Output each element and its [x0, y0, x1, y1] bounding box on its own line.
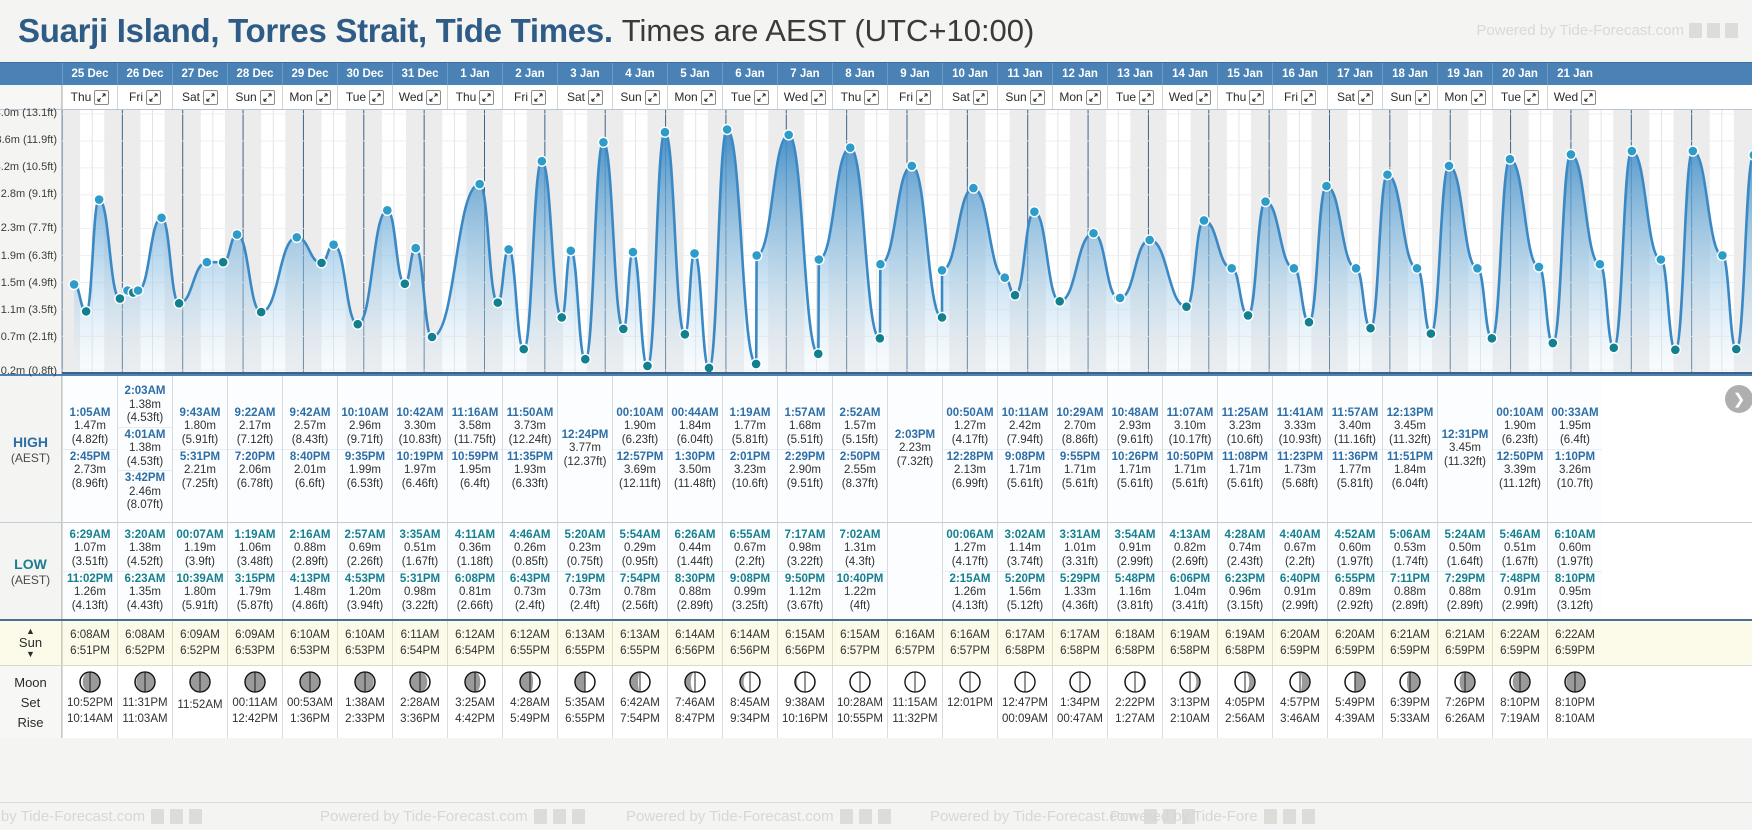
high-tide-cell[interactable]: 11:16AM3.58m(11.75ft)10:59PM1.95m(6.4ft): [447, 376, 502, 522]
expand-icon[interactable]: [531, 90, 546, 105]
tide-height-ft: (9.51ft): [778, 478, 832, 492]
moon-cell: 8:10PM7:19AM: [1492, 666, 1547, 738]
tide-time: 11:25AM: [1218, 407, 1272, 421]
date-header-cell[interactable]: 10 Jan: [942, 63, 997, 85]
tide-height-ft: (6.33ft): [503, 478, 557, 492]
dayofweek-header-cell[interactable]: Sat: [1327, 85, 1382, 109]
high-tide-cell[interactable]: 00:10AM1.90m(6.23ft)12:57PM3.69m(12.11ft…: [612, 376, 667, 522]
low-tide-cell[interactable]: 5:20AM0.23m(0.75ft)7:19PM0.73m(2.4ft): [557, 523, 612, 619]
tide-height-m: 3.26m: [1548, 464, 1602, 478]
tide-chart-page: Suarji Island, Torres Strait, Tide Times…: [0, 0, 1752, 830]
tide-height-ft: (6.4ft): [448, 478, 502, 492]
date-header-cell[interactable]: 19 Jan: [1437, 63, 1492, 85]
tide-height-ft: (2.99ft): [1108, 556, 1162, 570]
sun-cell: 6:20AM6:59PM: [1327, 621, 1382, 665]
tide-entry: 2:03PM2.23m(7.32ft): [888, 428, 942, 471]
low-tide-cell[interactable]: 6:29AM1.07m(3.51ft)11:02PM1.26m(4.13ft): [62, 523, 117, 619]
high-tide-cell[interactable]: 10:48AM2.93m(9.61ft)10:26PM1.71m(5.61ft): [1107, 376, 1162, 522]
date-header-cell[interactable]: 11 Jan: [997, 63, 1052, 85]
moon-phase-icon: [298, 670, 322, 694]
high-tide-cell[interactable]: 2:03PM2.23m(7.32ft): [887, 376, 942, 522]
dayofweek-header-cell[interactable]: Sat: [942, 85, 997, 109]
date-header-cell[interactable]: 5 Jan: [667, 63, 722, 85]
low-tide-cell[interactable]: [887, 523, 942, 619]
moon-phase-icon: [738, 670, 762, 694]
watermark-icon-1: [1689, 23, 1702, 38]
date-header-cell[interactable]: 17 Jan: [1327, 63, 1382, 85]
low-tide-cell[interactable]: 4:13AM0.82m(2.69ft)6:06PM1.04m(3.41ft): [1162, 523, 1217, 619]
y-axis-tick-label: 3.2m (10.5ft): [0, 161, 57, 173]
low-tide-cell[interactable]: 3:31AM1.01m(3.31ft)5:29PM1.33m(4.36ft): [1052, 523, 1107, 619]
dayofweek-header-cell[interactable]: Sun: [997, 85, 1052, 109]
date-header-cell[interactable]: 25 Dec: [62, 63, 117, 85]
sunrise-time: 6:21AM: [1390, 629, 1430, 641]
dayofweek-header-cell[interactable]: Sun: [227, 85, 282, 109]
low-tide-cell[interactable]: 5:06AM0.53m(1.74ft)7:11PM0.88m(2.89ft): [1382, 523, 1437, 619]
date-header-cell[interactable]: 1 Jan: [447, 63, 502, 85]
date-header-cell[interactable]: 14 Jan: [1162, 63, 1217, 85]
dayofweek-header-cell[interactable]: Fri: [502, 85, 557, 109]
low-tide-section: LOW (AEST) 6:29AM1.07m(3.51ft)11:02PM1.2…: [0, 522, 1752, 619]
high-tide-cell[interactable]: 11:25AM3.23m(10.6ft)11:08PM1.71m(5.61ft): [1217, 376, 1272, 522]
date-header-cell[interactable]: 9 Jan: [887, 63, 942, 85]
expand-icon[interactable]: [146, 90, 161, 105]
high-tide-cell[interactable]: 9:43AM1.80m(5.91ft)5:31PM2.21m(7.25ft): [172, 376, 227, 522]
dayofweek-header-cell[interactable]: Thu: [832, 85, 887, 109]
expand-icon[interactable]: [588, 90, 603, 105]
tide-height-m: 2.01m: [283, 464, 337, 478]
high-tide-cell[interactable]: 12:24PM3.77m(12.37ft): [557, 376, 612, 522]
expand-icon[interactable]: [1358, 90, 1373, 105]
tide-height-m: 3.69m: [613, 464, 667, 478]
tide-time: 10:50PM: [1163, 451, 1217, 465]
tide-entry: 11:07AM3.10m(10.17ft): [1163, 406, 1217, 449]
high-tide-cell[interactable]: 10:10AM2.96m(9.71ft)9:35PM1.99m(6.53ft): [337, 376, 392, 522]
tide-height-ft: (1.18ft): [448, 556, 502, 570]
tide-height-ft: (2.89ft): [668, 600, 722, 614]
tide-height-m: 3.45m: [1383, 420, 1437, 434]
y-axis-tick-label: 1.1m (3.5ft): [1, 304, 57, 316]
date-header-cell[interactable]: 13 Jan: [1107, 63, 1162, 85]
date-header-cell[interactable]: 16 Jan: [1272, 63, 1327, 85]
tide-time: 11:57AM: [1328, 407, 1382, 421]
high-tide-cell[interactable]: 10:42AM3.30m(10.83ft)10:19PM1.97m(6.46ft…: [392, 376, 447, 522]
moon-phase-icon: [408, 670, 432, 694]
high-tide-cell[interactable]: 9:42AM2.57m(8.43ft)8:40PM2.01m(6.6ft): [282, 376, 337, 522]
moon-cell: 4:28AM5:49PM: [502, 666, 557, 738]
sunrise-time: 6:18AM: [1115, 629, 1155, 641]
low-tide-cell[interactable]: 7:02AM1.31m(4.3ft)10:40PM1.22m(4ft): [832, 523, 887, 619]
footer-icon-3: [878, 809, 891, 824]
low-tide-cell[interactable]: 2:57AM0.69m(2.26ft)4:53PM1.20m(3.94ft): [337, 523, 392, 619]
date-header-cell[interactable]: 21 Jan: [1547, 63, 1602, 85]
high-tide-cell[interactable]: 00:33AM1.95m(6.4ft)1:10PM3.26m(10.7ft): [1547, 376, 1602, 522]
expand-icon[interactable]: [316, 90, 331, 105]
dayofweek-text: Wed: [1169, 90, 1193, 104]
dayofweek-text: Mon: [674, 90, 697, 104]
date-header-cell[interactable]: 2 Jan: [502, 63, 557, 85]
tide-height-m: 0.88m: [1383, 586, 1437, 600]
moon-cell: 3:13PM2:10AM: [1162, 666, 1217, 738]
date-header-cell[interactable]: 18 Jan: [1382, 63, 1437, 85]
high-tide-cell[interactable]: 12:31PM3.45m(11.32ft): [1437, 376, 1492, 522]
dayofweek-header-cell[interactable]: Sat: [172, 85, 227, 109]
tide-height-ft: (2.26ft): [338, 556, 392, 570]
expand-icon[interactable]: [94, 90, 109, 105]
expand-icon[interactable]: [1524, 90, 1539, 105]
tide-height-m: 0.51m: [1493, 542, 1547, 556]
sunrise-time: 6:12AM: [455, 629, 495, 641]
low-tide-cell[interactable]: 1:19AM1.06m(3.48ft)3:15PM1.79m(5.87ft): [227, 523, 282, 619]
high-tide-cell[interactable]: 12:13PM3.45m(11.32ft)11:51PM1.84m(6.04ft…: [1382, 376, 1437, 522]
expand-icon[interactable]: [1301, 90, 1316, 105]
sunset-time: 6:59PM: [1280, 645, 1320, 657]
expand-icon[interactable]: [1249, 90, 1264, 105]
tide-height-ft: (8.43ft): [283, 434, 337, 448]
tide-entry: 3:31AM1.01m(3.31ft): [1053, 528, 1107, 571]
tide-height-m: 2.06m: [228, 464, 282, 478]
date-header-cell[interactable]: 27 Dec: [172, 63, 227, 85]
tide-height-m: 1.84m: [668, 420, 722, 434]
tide-height-ft: (10.93ft): [1273, 434, 1327, 448]
tide-entry: 11:51PM1.84m(6.04ft): [1383, 449, 1437, 493]
sunset-time: 6:55PM: [510, 645, 550, 657]
moon-phase-icon: [1288, 670, 1312, 694]
expand-icon[interactable]: [916, 90, 931, 105]
low-tide-cell[interactable]: 3:20AM1.38m(4.52ft)6:23AM1.35m(4.43ft): [117, 523, 172, 619]
moonrise-time: 2:56AM: [1225, 712, 1265, 726]
tide-height-m: 0.88m: [668, 586, 722, 600]
tide-time: 3:02AM: [998, 529, 1052, 543]
low-tide-cell[interactable]: 5:46AM0.51m(1.67ft)7:48PM0.91m(2.99ft): [1492, 523, 1547, 619]
expand-icon[interactable]: [1581, 90, 1596, 105]
tide-time: 12:57PM: [613, 451, 667, 465]
dayofweek-text: Mon: [1059, 90, 1082, 104]
date-header-cell[interactable]: 3 Jan: [557, 63, 612, 85]
low-tide-cell[interactable]: 5:54AM0.29m(0.95ft)7:54PM0.78m(2.56ft): [612, 523, 667, 619]
high-tide-cell[interactable]: 2:03AM1.38m(4.53ft)4:01AM1.38m(4.53ft)3:…: [117, 376, 172, 522]
tide-time: 6:26AM: [668, 529, 722, 543]
footer-watermark-text: Powered by Tide-Fore: [1110, 808, 1258, 825]
high-tide-cell[interactable]: 00:10AM1.90m(6.23ft)12:50PM3.39m(11.12ft…: [1492, 376, 1547, 522]
high-tide-cell[interactable]: 9:22AM2.17m(7.12ft)7:20PM2.06m(6.78ft): [227, 376, 282, 522]
tide-time: 5:06AM: [1383, 529, 1437, 543]
low-label-tz: (AEST): [11, 573, 50, 587]
dayofweek-header-cell[interactable]: Mon: [667, 85, 722, 109]
tide-time: 3:15PM: [228, 573, 282, 587]
moonset-time: 8:10PM: [1555, 696, 1595, 710]
tide-height-ft: (2.92ft): [1328, 600, 1382, 614]
expand-icon[interactable]: [1030, 90, 1045, 105]
dayofweek-text: Wed: [399, 90, 423, 104]
dayofweek-header-cell[interactable]: Sun: [612, 85, 667, 109]
moonrise-time: 00:09AM: [1002, 712, 1048, 726]
expand-icon[interactable]: [260, 90, 275, 105]
tide-height-ft: (3.94ft): [338, 600, 392, 614]
low-tide-label: LOW (AEST): [0, 523, 62, 619]
tide-height-m: 0.91m: [1273, 586, 1327, 600]
expand-icon[interactable]: [864, 90, 879, 105]
tide-time: 2:03AM: [118, 385, 172, 399]
dayofweek-header-cell[interactable]: Sun: [1382, 85, 1437, 109]
low-tide-cell[interactable]: 00:06AM1.27m(4.17ft)2:15AM1.26m(4.13ft): [942, 523, 997, 619]
expand-icon[interactable]: [1086, 90, 1101, 105]
footer-watermark-bar: ed by Tide-Forecast.comPowered by Tide-F…: [0, 802, 1752, 830]
tide-height-ft: (3.15ft): [1218, 600, 1272, 614]
sun-cell: 6:21AM6:59PM: [1437, 621, 1492, 665]
tide-time: 11:07AM: [1163, 407, 1217, 421]
tide-height-ft: (12.11ft): [613, 478, 667, 492]
dayofweek-header-cell[interactable]: Thu: [62, 85, 117, 109]
high-label-text: HIGH: [13, 434, 48, 450]
sun-cell: 6:17AM6:58PM: [997, 621, 1052, 665]
date-header-cell[interactable]: 15 Jan: [1217, 63, 1272, 85]
tide-height-m: 1.93m: [503, 464, 557, 478]
dayofweek-header-cell[interactable]: Fri: [887, 85, 942, 109]
tide-height-ft: (1.44ft): [668, 556, 722, 570]
sunrise-time: 6:22AM: [1555, 629, 1595, 641]
sunset-time: 6:53PM: [345, 645, 385, 657]
tide-height-m: 1.71m: [1218, 464, 1272, 478]
tide-height-ft: (5.81ft): [1328, 478, 1382, 492]
low-tide-cell[interactable]: 4:11AM0.36m(1.18ft)6:08PM0.81m(2.66ft): [447, 523, 502, 619]
dayofweek-header-cell[interactable]: Thu: [447, 85, 502, 109]
tide-height-ft: (5.12ft): [998, 600, 1052, 614]
expand-icon[interactable]: [426, 90, 441, 105]
tide-height-m: 3.45m: [1438, 442, 1492, 456]
tide-height-ft: (3.22ft): [778, 556, 832, 570]
low-tide-cell[interactable]: 5:24AM0.50m(1.64ft)7:29PM0.88m(2.89ft): [1437, 523, 1492, 619]
tide-height-ft: (12.37ft): [558, 456, 612, 470]
low-tide-cell[interactable]: 3:35AM0.51m(1.67ft)5:31PM0.98m(3.22ft): [392, 523, 447, 619]
date-header-cell[interactable]: 12 Jan: [1052, 63, 1107, 85]
moonrise-time: 3:36PM: [400, 712, 440, 726]
high-tide-columns: 1:05AM1.47m(4.82ft)2:45PM2.73m(8.96ft)2:…: [62, 376, 1752, 522]
expand-icon[interactable]: [1196, 90, 1211, 105]
tide-time: 11:08PM: [1218, 451, 1272, 465]
high-tide-cell[interactable]: 2:52AM1.57m(5.15ft)2:50PM2.55m(8.37ft): [832, 376, 887, 522]
date-header-cell[interactable]: 7 Jan: [777, 63, 832, 85]
moon-phase-icon: [793, 670, 817, 694]
high-tide-cell[interactable]: 10:29AM2.70m(8.86ft)9:55PM1.71m(5.61ft): [1052, 376, 1107, 522]
tide-time: 12:31PM: [1438, 429, 1492, 443]
date-header-cell[interactable]: 6 Jan: [722, 63, 777, 85]
dayofweek-header-cell[interactable]: Tue: [1492, 85, 1547, 109]
expand-icon[interactable]: [701, 90, 716, 105]
tide-entry: 11:25AM3.23m(10.6ft): [1218, 406, 1272, 449]
tide-time: 3:31AM: [1053, 529, 1107, 543]
moon-cell: 3:25AM4:42PM: [447, 666, 502, 738]
date-header-cell[interactable]: 30 Dec: [337, 63, 392, 85]
low-tide-cell[interactable]: 6:26AM0.44m(1.44ft)8:30PM0.88m(2.89ft): [667, 523, 722, 619]
low-tide-cell[interactable]: 3:02AM1.14m(3.74ft)5:20PM1.56m(5.12ft): [997, 523, 1052, 619]
dayofweek-text: Fri: [1284, 90, 1298, 104]
tide-entry: 10:48AM2.93m(9.61ft): [1108, 406, 1162, 449]
low-tide-cell[interactable]: 7:17AM0.98m(3.22ft)9:50PM1.12m(3.67ft): [777, 523, 832, 619]
low-tide-cell[interactable]: 00:07AM1.19m(3.9ft)10:39AM1.80m(5.91ft): [172, 523, 227, 619]
tide-time: 11:02PM: [63, 573, 117, 587]
expand-icon[interactable]: [1139, 90, 1154, 105]
tide-height-ft: (7.12ft): [228, 434, 282, 448]
moon-phase-icon: [958, 670, 982, 694]
moonset-time: 2:28AM: [400, 696, 440, 710]
sunrise-time: 6:22AM: [1500, 629, 1540, 641]
high-tide-cell[interactable]: 11:07AM3.10m(10.17ft)10:50PM1.71m(5.61ft…: [1162, 376, 1217, 522]
expand-icon[interactable]: [811, 90, 826, 105]
dayofweek-header-cell[interactable]: Wed: [1162, 85, 1217, 109]
sunrise-time: 6:08AM: [125, 629, 165, 641]
expand-icon[interactable]: [479, 90, 494, 105]
high-tide-cell[interactable]: 11:50AM3.73m(12.24ft)11:35PM1.93m(6.33ft…: [502, 376, 557, 522]
expand-icon[interactable]: [369, 90, 384, 105]
tide-height-m: 0.95m: [1548, 586, 1602, 600]
tide-entry: 00:44AM1.84m(6.04ft): [668, 406, 722, 449]
sunset-time: 6:57PM: [950, 645, 990, 657]
date-header-cell[interactable]: 4 Jan: [612, 63, 667, 85]
tide-time: 1:57AM: [778, 407, 832, 421]
high-tide-cell[interactable]: 10:11AM2.42m(7.94ft)9:08PM1.71m(5.61ft): [997, 376, 1052, 522]
dayofweek-header-cell[interactable]: Wed: [1547, 85, 1602, 109]
low-tide-cell[interactable]: 3:54AM0.91m(2.99ft)5:48PM1.16m(3.81ft): [1107, 523, 1162, 619]
tide-time: 11:51PM: [1383, 451, 1437, 465]
date-header-cell[interactable]: 31 Dec: [392, 63, 447, 85]
dayofweek-header-cell[interactable]: Tue: [722, 85, 777, 109]
high-tide-cell[interactable]: 11:57AM3.40m(11.16ft)11:36PM1.77m(5.81ft…: [1327, 376, 1382, 522]
date-header-cell[interactable]: 8 Jan: [832, 63, 887, 85]
date-header-cell[interactable]: 29 Dec: [282, 63, 337, 85]
tide-height-m: 1.99m: [338, 464, 392, 478]
dayofweek-text: Fri: [514, 90, 528, 104]
tide-height-m: 0.88m: [1438, 586, 1492, 600]
high-tide-cell[interactable]: 11:41AM3.33m(10.93ft)11:23PM1.73m(5.68ft…: [1272, 376, 1327, 522]
date-header-cell[interactable]: 26 Dec: [117, 63, 172, 85]
moon-phase-icon: [848, 670, 872, 694]
tide-height-ft: (6.6ft): [283, 478, 337, 492]
tide-height-ft: (2.4ft): [558, 600, 612, 614]
dayofweek-header-cell[interactable]: Wed: [777, 85, 832, 109]
tide-time: 1:19AM: [723, 407, 777, 421]
high-tide-cell[interactable]: 00:44AM1.84m(6.04ft)1:30PM3.50m(11.48ft): [667, 376, 722, 522]
expand-icon[interactable]: [203, 90, 218, 105]
dayofweek-header-cell[interactable]: Wed: [392, 85, 447, 109]
moonrise-time: 11:52AM: [177, 698, 222, 712]
tide-time: 10:11AM: [998, 407, 1052, 421]
moonset-time: 11:15AM: [892, 696, 937, 710]
tide-height-ft: (6.4ft): [1548, 434, 1602, 448]
tide-entry: 5:48PM1.16m(3.81ft): [1108, 571, 1162, 615]
low-tide-cell[interactable]: 4:28AM0.74m(2.43ft)6:23PM0.96m(3.15ft): [1217, 523, 1272, 619]
dayofweek-text: Sat: [182, 90, 200, 104]
moon-section: Moon Set Rise 10:52PM10:14AM11:31PM11:03…: [0, 665, 1752, 738]
dayofweek-header-cell[interactable]: Tue: [337, 85, 392, 109]
low-tide-cell[interactable]: 6:55AM0.67m(2.2ft)9:08PM0.99m(3.25ft): [722, 523, 777, 619]
dayofweek-header-cell[interactable]: Mon: [1437, 85, 1492, 109]
tide-height-m: 1.47m: [63, 420, 117, 434]
expand-icon[interactable]: [973, 90, 988, 105]
footer-icon-1: [534, 809, 547, 824]
tide-entry: 8:10PM0.95m(3.12ft): [1548, 571, 1602, 615]
sunrise-time: 6:11AM: [401, 629, 440, 641]
scroll-right-button[interactable]: ❯: [1725, 385, 1752, 413]
sunrise-time: 6:17AM: [1060, 629, 1100, 641]
tide-time: 6:40PM: [1273, 573, 1327, 587]
date-header-cell[interactable]: 20 Jan: [1492, 63, 1547, 85]
tide-entry: 3:42PM2.46m(8.07ft): [118, 470, 172, 514]
expand-icon[interactable]: [1471, 90, 1486, 105]
tide-time: 00:50AM: [943, 407, 997, 421]
high-tide-cell[interactable]: 00:50AM1.27m(4.17ft)12:28PM2.13m(6.99ft): [942, 376, 997, 522]
dayofweek-header-cell[interactable]: Mon: [1052, 85, 1107, 109]
tide-height-m: 1.06m: [228, 542, 282, 556]
dayofweek-header-cell[interactable]: Thu: [1217, 85, 1272, 109]
tide-height-m: 0.23m: [558, 542, 612, 556]
low-tide-cell[interactable]: 4:52AM0.60m(1.97ft)6:55PM0.89m(2.92ft): [1327, 523, 1382, 619]
high-tide-cell[interactable]: 1:05AM1.47m(4.82ft)2:45PM2.73m(8.96ft): [62, 376, 117, 522]
moonrise-time: 3:46AM: [1280, 712, 1320, 726]
high-tide-cell[interactable]: 1:57AM1.68m(5.51ft)2:29PM2.90m(9.51ft): [777, 376, 832, 522]
sunset-time: 6:56PM: [785, 645, 825, 657]
low-tide-cell[interactable]: 4:46AM0.26m(0.85ft)6:43PM0.73m(2.4ft): [502, 523, 557, 619]
tide-time: 10:19PM: [393, 451, 447, 465]
dayofweek-header-cell[interactable]: Mon: [282, 85, 337, 109]
tide-time: 5:31PM: [173, 451, 227, 465]
tide-height-ft: (4.3ft): [833, 556, 887, 570]
tide-height-m: 1.80m: [173, 420, 227, 434]
dayofweek-header-cell[interactable]: Tue: [1107, 85, 1162, 109]
date-header-cell[interactable]: 28 Dec: [227, 63, 282, 85]
tide-time: 6:29AM: [63, 529, 117, 543]
tide-time: 7:11PM: [1383, 573, 1437, 587]
low-tide-cell[interactable]: 4:40AM0.67m(2.2ft)6:40PM0.91m(2.99ft): [1272, 523, 1327, 619]
sunset-time: 6:57PM: [895, 645, 935, 657]
tide-entry: 5:20AM0.23m(0.75ft): [558, 528, 612, 571]
tide-time: 10:39AM: [173, 573, 227, 587]
date-header-spacer: [0, 63, 62, 85]
tide-height-m: 1.57m: [833, 420, 887, 434]
tide-height-m: 2.46m: [118, 486, 172, 500]
moonrise-time: 7:54PM: [620, 712, 660, 726]
dayofweek-header-cell[interactable]: Fri: [117, 85, 172, 109]
tide-height-m: 0.91m: [1108, 542, 1162, 556]
high-tide-cell[interactable]: 1:19AM1.77m(5.81ft)2:01PM3.23m(10.6ft): [722, 376, 777, 522]
low-tide-cell[interactable]: 2:16AM0.88m(2.89ft)4:13PM1.48m(4.86ft): [282, 523, 337, 619]
tide-entry: 11:02PM1.26m(4.13ft): [63, 571, 117, 615]
tide-height-ft: (2.69ft): [1163, 556, 1217, 570]
dayofweek-header-cell[interactable]: Fri: [1272, 85, 1327, 109]
tide-height-ft: (6.78ft): [228, 478, 282, 492]
expand-icon[interactable]: [754, 90, 769, 105]
tide-entry: 10:10AM2.96m(9.71ft): [338, 406, 392, 449]
moonset-time: 9:38AM: [785, 696, 825, 710]
tide-height-ft: (0.85ft): [503, 556, 557, 570]
tide-time: 6:08PM: [448, 573, 502, 587]
tide-height-ft: (12.24ft): [503, 434, 557, 448]
tide-height-m: 1.07m: [63, 542, 117, 556]
sun-cell: 6:19AM6:58PM: [1162, 621, 1217, 665]
tide-time: 2:52AM: [833, 407, 887, 421]
dayofweek-header-cell[interactable]: Sat: [557, 85, 612, 109]
tide-height-m: 1.77m: [1328, 464, 1382, 478]
tide-time: 3:20AM: [118, 529, 172, 543]
tide-entry: 6:08PM0.81m(2.66ft): [448, 571, 502, 615]
low-tide-cell[interactable]: 6:10AM0.60m(1.97ft)8:10PM0.95m(3.12ft): [1547, 523, 1602, 619]
sunset-time: 6:59PM: [1335, 645, 1375, 657]
moonrise-time: 10:16PM: [782, 712, 828, 726]
expand-icon[interactable]: [1415, 90, 1430, 105]
footer-icon-1: [840, 809, 853, 824]
expand-icon[interactable]: [645, 90, 660, 105]
moon-phase-icon: [1178, 670, 1202, 694]
